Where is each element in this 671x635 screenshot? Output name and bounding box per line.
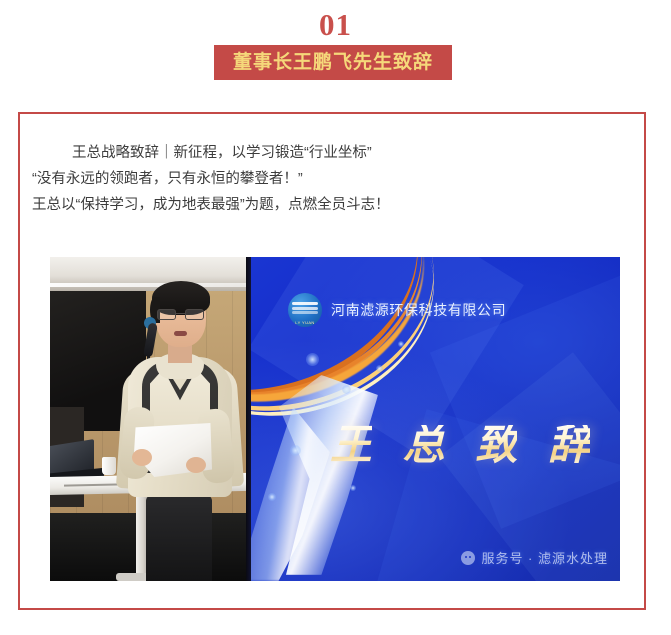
- glasses-bridge: [176, 313, 185, 314]
- calligraphy-char-2: 总: [403, 425, 445, 467]
- glasses-left-lens: [157, 309, 176, 320]
- water-wave-icon: [292, 302, 318, 305]
- wechat-icon: [461, 551, 475, 565]
- bokeh-dot: [290, 445, 301, 456]
- speaker-mouth: [174, 331, 187, 336]
- body-copy: 王总战略致辞｜新征程，以学习锻造“行业坐标” “没有永远的领跑者，只有永恒的攀登…: [32, 140, 632, 218]
- bokeh-dot: [342, 385, 351, 394]
- calligraphy-char-4: 辞: [548, 425, 590, 467]
- glasses-icon: [156, 309, 206, 320]
- calligraphy-char-1: 王: [330, 425, 372, 467]
- company-logo-icon: LY YUAN: [288, 293, 322, 327]
- bokeh-dot: [268, 493, 276, 501]
- watermark-text: 服务号 · 滤源水处理: [481, 548, 608, 567]
- bokeh-dot: [398, 341, 404, 347]
- glasses-right-lens: [185, 309, 204, 320]
- body-copy-line-3: 王总以“保持学习，成为地表最强”为题，点燃全员斗志！: [32, 192, 632, 218]
- section-header: 01 董事长王鹏飞先生致辞: [0, 0, 671, 100]
- company-logo-pinyin: LY YUAN: [288, 320, 322, 325]
- speaker-left-hand: [132, 449, 152, 466]
- screen-bezel: [246, 257, 251, 581]
- section-number: 01: [0, 6, 671, 44]
- bokeh-dot: [306, 353, 319, 366]
- section-title-banner: 董事长王鹏飞先生致辞: [214, 45, 452, 80]
- watermark: 服务号 · 滤源水处理: [461, 548, 608, 567]
- company-logo-row: LY YUAN 河南滤源环保科技有限公司: [288, 293, 506, 327]
- bokeh-dot: [376, 365, 383, 372]
- calligraphy-title: 王 总 致 辞: [330, 425, 590, 467]
- speaker-right-hand: [186, 457, 206, 473]
- content-card: 王总战略致辞｜新征程，以学习锻造“行业坐标” “没有永远的领跑者，只有永恒的攀登…: [18, 112, 646, 610]
- body-copy-line-2: “没有永远的领跑者，只有永恒的攀登者！”: [32, 166, 632, 192]
- body-copy-line-1: 王总战略致辞｜新征程，以学习锻造“行业坐标”: [32, 140, 632, 166]
- projection-screen: LY YUAN 河南滤源环保科技有限公司 王 总 致 辞 服务号 · 滤源水处理: [246, 257, 620, 581]
- calligraphy-char-3: 致: [475, 425, 517, 467]
- company-name-text: 河南滤源环保科技有限公司: [331, 300, 506, 320]
- section-title-text: 董事长王鹏飞先生致辞: [233, 53, 433, 72]
- speaker-legs: [146, 495, 212, 581]
- event-photo: LY YUAN 河南滤源环保科技有限公司 王 总 致 辞 服务号 · 滤源水处理: [50, 257, 620, 581]
- bokeh-dot: [350, 485, 356, 491]
